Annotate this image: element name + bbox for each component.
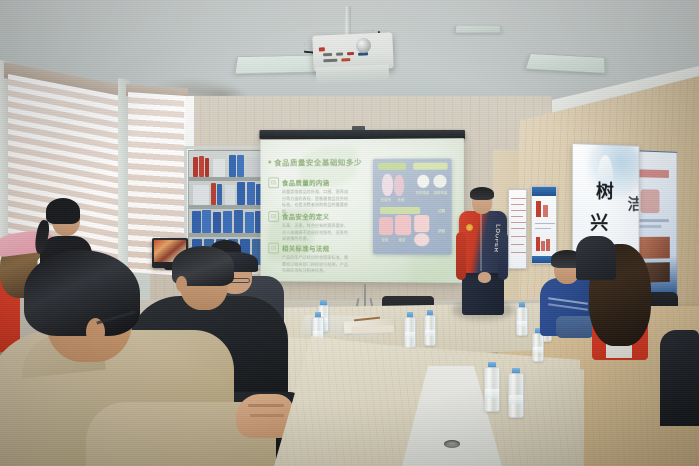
attendee-beige-jacket-hair [24,250,140,336]
slide-section-heading: 食品质量的内涵 [282,177,351,187]
slide-section-body: 产品的生产过程应符合国家标准，需要经过相关部门的检验与检测，产品包装应当标注相关… [282,255,351,275]
slide-section-02: 02 食品安全的定义 无毒、无害，符合应有的营养要求，对人体健康不造成任何急性、… [282,211,351,242]
slide-section-number: 03 [268,243,279,254]
projector-underside [316,64,390,83]
slide-section-number: 01 [268,177,279,188]
infographic-caption: 色素 [393,198,409,202]
wall-poster-center [531,186,557,264]
slide-section-heading: 食品安全的定义 [282,211,351,221]
attendee-back-right [576,236,616,280]
slide-section-heading: 相关标准与法规 [282,243,351,253]
infographic-caption: 过期 [433,209,449,213]
infographic-caption: 霉变 [394,238,410,242]
slide-section-body: 无毒、无害，符合应有的营养要求，对人体健康不造成任何急性、亚急性或者慢性危害。 [282,223,351,243]
attendee-black-jacket-ear [176,276,187,292]
infographic-caption: 激素残留 [431,191,449,195]
water-bottle[interactable] [508,368,524,418]
slide-title: 食品质量安全基础知多少 [274,157,362,168]
slide-section-01: 01 食品质量的内涵 质量是指食品的外观、口感、营养成分等方面的表现，是衡量食品… [282,177,351,215]
table-cable-grommet-front [444,440,460,448]
paper-documents-secondary [352,325,394,333]
slide-title-bullet [268,161,271,164]
attendee-ponytail-hair [46,198,80,224]
slide-section-number: 02 [268,211,279,222]
presenter-jacket-zipper [480,213,482,271]
infographic-panel-title-2 [413,163,447,170]
presenter-arm-left [456,232,466,280]
infographic-panel-title-1 [378,163,406,170]
attendee-blue-tracksuit-arm [556,316,594,338]
slide-section-03: 03 相关标准与法规 产品的生产过程应符合国家标准，需要经过相关部门的检验与检测… [282,243,351,275]
presenter-arm-right [498,232,508,280]
water-bottle[interactable] [424,310,436,346]
ceiling-light-panel-far [454,25,501,33]
infographic-caption: 农药残留 [413,191,431,195]
water-bottle[interactable] [516,302,528,336]
banner-character-1: 树 [596,177,614,204]
presenter-jacket-emblem [466,224,473,231]
projection-screen: 食品质量安全基础知多少 01 食品质量的内涵 质量是指食品的外观、口感、营养成分… [260,138,463,283]
banner-character-2: 兴 [590,208,608,235]
wall-poster-left [508,189,527,269]
attendee-beige-jacket-finger [248,404,284,407]
infographic-row2-title [380,207,420,214]
attendee-beige-jacket-finger [250,414,284,417]
presenter-hair [470,187,494,200]
attendee-far-right-dark [660,330,699,426]
water-bottle[interactable] [484,362,500,412]
banner-character-overlay: 洁 [628,191,640,214]
presenter-hand [478,272,491,283]
water-bottle[interactable] [404,312,416,348]
infographic-caption: 防腐剂 [378,198,394,202]
slide-infographic: 防腐剂 色素 农药残留 激素残留 变质 霉变 过期 掺假 [373,158,452,254]
ceiling-light-panel-left [234,55,324,74]
infographic-caption: 变质 [377,238,393,242]
conference-room-photo: 食品质量安全基础知多少 01 食品质量的内涵 质量是指食品的外观、口感、营养成分… [0,0,699,466]
infographic-caption: 掺假 [433,229,449,233]
